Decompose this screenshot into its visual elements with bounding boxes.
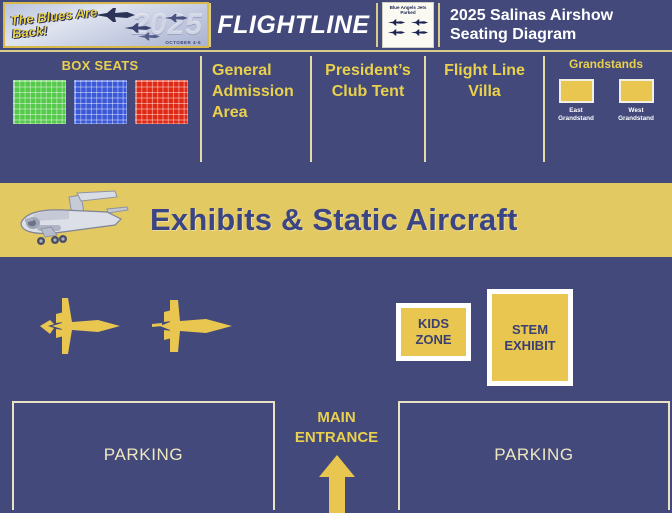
blue-angels-jet-grid [387, 18, 429, 37]
blue-box-seats-grid[interactable] [74, 80, 127, 124]
exhibits-static-aircraft-banner[interactable]: Exhibits & Static Aircraft [0, 183, 672, 257]
flightline-heading: FLIGHTLINE [211, 0, 376, 50]
box-seats-zone[interactable]: BOX SEATS [0, 52, 200, 176]
diagram-header: 2025 The Blues Are Back! OCTOBER 4-5 FLI… [0, 0, 672, 50]
airshow-seating-diagram: 2025 The Blues Are Back! OCTOBER 4-5 FLI… [0, 0, 672, 510]
presidents-club-tent-label: President’s Club Tent [312, 60, 424, 102]
diagram-title-line-2: Seating Diagram [450, 25, 672, 44]
static-jet-icon-left [38, 290, 128, 362]
exhibits-banner-label: Exhibits & Static Aircraft [150, 202, 672, 238]
up-arrow-icon [316, 453, 358, 513]
flight-line-villa-label: Flight Line Villa [426, 60, 543, 102]
stem-exhibit-box[interactable]: STEM EXHIBIT [487, 289, 573, 386]
box-seats-grids [13, 80, 188, 124]
parking-left-label: PARKING [104, 445, 183, 469]
blue-angels-jet-icon-1 [387, 18, 406, 27]
blue-angels-box-title: Blue Angels Jets Parked [383, 5, 433, 16]
main-entrance-area[interactable]: MAIN ENTRANCE [275, 403, 398, 510]
west-grandstand[interactable]: West Grandstand [613, 79, 659, 123]
header-divider-2 [376, 3, 378, 47]
east-grandstand-caption: East Grandstand [553, 107, 599, 123]
red-box-seats-grid[interactable] [135, 80, 188, 124]
seating-zones-row: BOX SEATS General Admission Area Preside… [0, 52, 672, 176]
box-seats-label: BOX SEATS [62, 58, 139, 73]
west-grandstand-block [619, 79, 654, 103]
grandstands-zone[interactable]: Grandstands East Grandstand West Grandst… [545, 52, 667, 176]
logo-jet-icon-1 [93, 7, 137, 23]
blues-are-back-logo: 2025 The Blues Are Back! OCTOBER 4-5 [3, 2, 209, 48]
blue-angels-jet-icon-4 [410, 28, 429, 37]
static-jet-icon-right [148, 290, 238, 362]
blue-angels-jets-parked-box: Blue Angels Jets Parked [382, 2, 434, 48]
flight-line-villa-zone[interactable]: Flight Line Villa [426, 52, 543, 176]
presidents-club-tent-zone[interactable]: President’s Club Tent [312, 52, 424, 176]
green-box-seats-grid[interactable] [13, 80, 66, 124]
blue-angels-jet-icon-3 [387, 28, 406, 37]
blue-angels-jet-icon-2 [410, 18, 429, 27]
general-admission-zone[interactable]: General Admission Area [202, 52, 310, 176]
stem-exhibit-label: STEM EXHIBIT [492, 322, 568, 354]
grandstands-label: Grandstands [569, 57, 643, 71]
grandstands-pair: East Grandstand West Grandstand [553, 79, 659, 123]
logo-jet-icon-3 [163, 13, 189, 23]
kids-zone-label: KIDS ZONE [401, 316, 466, 348]
logo-jet-icon-4 [137, 32, 161, 41]
parking-right-area[interactable]: PARKING [398, 401, 670, 510]
cargo-aircraft-icon [0, 189, 150, 251]
diagram-title-line-1: 2025 Salinas Airshow [450, 6, 672, 25]
east-grandstand-block [559, 79, 594, 103]
main-entrance-label: MAIN ENTRANCE [275, 408, 398, 448]
logo-date-text: OCTOBER 4-5 [165, 40, 201, 45]
diagram-title: 2025 Salinas Airshow Seating Diagram [440, 0, 672, 50]
parking-left-area[interactable]: PARKING [12, 401, 275, 510]
west-grandstand-caption: West Grandstand [613, 107, 659, 123]
general-admission-label: General Admission Area [212, 60, 310, 123]
flightline-label: FLIGHTLINE [217, 11, 369, 40]
parking-right-label: PARKING [494, 445, 573, 469]
kids-zone-box[interactable]: KIDS ZONE [396, 303, 471, 361]
east-grandstand[interactable]: East Grandstand [553, 79, 599, 123]
